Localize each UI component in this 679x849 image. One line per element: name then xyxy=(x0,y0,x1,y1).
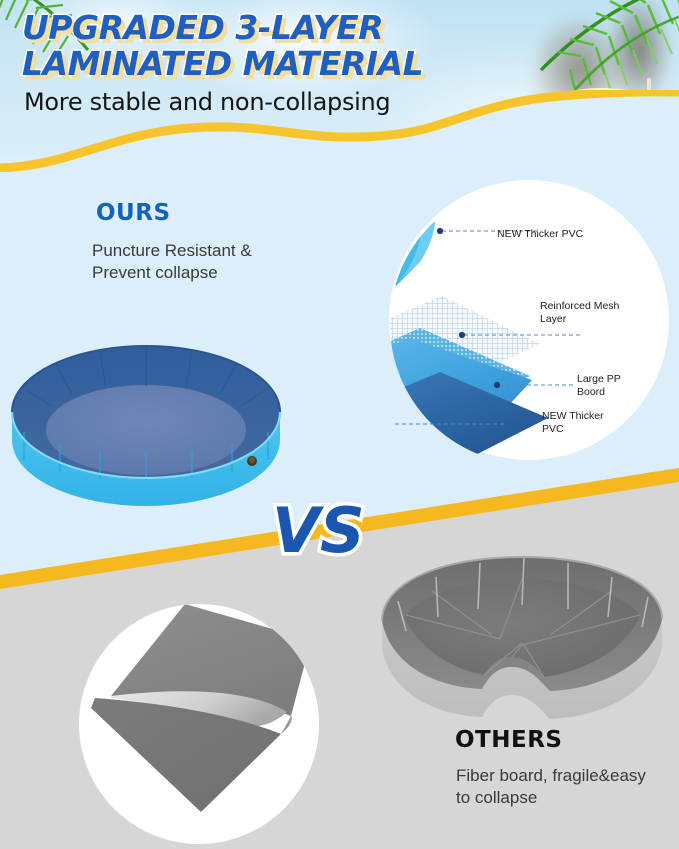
callout-label-bottom-pvc: NEW Thicker PVC xyxy=(542,410,622,435)
vs-badge: VS xyxy=(272,500,365,562)
ours-label: OURS xyxy=(96,200,171,226)
others-product-pool xyxy=(372,535,672,720)
header-title-wrap: UPGRADED 3-LAYER LAMINATED MATERIAL xyxy=(22,10,542,82)
callout-label-top-pvc: NEW Thicker PVC xyxy=(497,228,647,241)
infographic-stage: UPGRADED 3-LAYER LAMINATED MATERIAL More… xyxy=(0,0,679,849)
callout-label-pp-board: Large PP Boord xyxy=(577,373,647,398)
page-title: UPGRADED 3-LAYER LAMINATED MATERIAL xyxy=(22,10,542,82)
others-label: OTHERS xyxy=(455,727,562,753)
yellow-wave-divider xyxy=(0,90,679,180)
others-description: Fiber board, fragile&easy to collapse xyxy=(456,765,646,809)
ours-description: Puncture Resistant & Prevent collapse xyxy=(92,240,292,284)
others-material-closeup xyxy=(75,600,323,848)
callout-label-mesh: Reinforced Mesh Layer xyxy=(540,300,645,325)
